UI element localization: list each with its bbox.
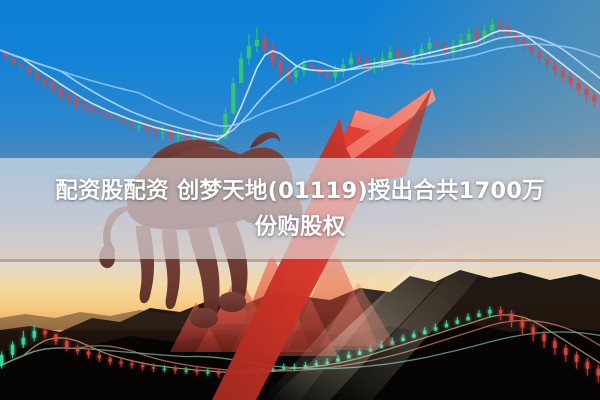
headline-overlay-band xyxy=(0,158,600,259)
news-banner-image: 配资股配资 创梦天地(01119)授出合共1700万 份购股权 xyxy=(0,0,600,400)
